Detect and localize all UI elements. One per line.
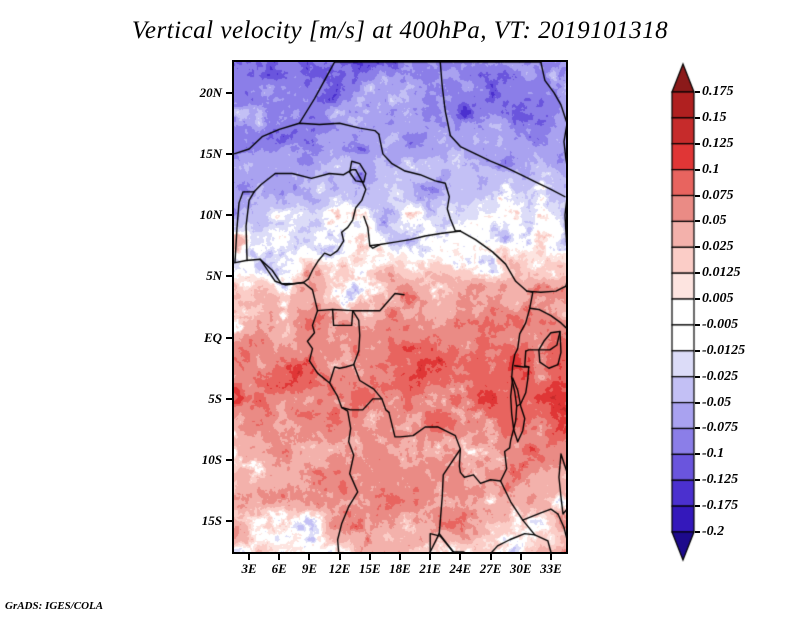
colorbar-tick-mark <box>695 91 700 93</box>
colorbar-tick-mark <box>695 376 700 378</box>
colorbar-tick-label: 0.175 <box>702 84 734 100</box>
colorbar-tick-label: 0.075 <box>702 188 734 204</box>
colorbar-tick-mark <box>695 272 700 274</box>
y-axis-tick-label: 15S <box>174 513 222 529</box>
y-axis-tick-label: 15N <box>174 146 222 162</box>
colorbar-tick-label: 0.05 <box>702 213 727 229</box>
y-axis-tick-mark <box>226 92 232 94</box>
page-title: Vertical velocity [m/s] at 400hPa, VT: 2… <box>0 17 800 45</box>
colorbar-tick-mark <box>695 117 700 119</box>
colorbar-tick-mark <box>695 479 700 481</box>
colorbar-tick-mark <box>695 169 700 171</box>
map-plot-area <box>232 60 568 554</box>
x-axis-tick-mark <box>248 554 250 560</box>
colorbar-tick-label: -0.05 <box>702 395 731 411</box>
colorbar-tick-mark <box>695 453 700 455</box>
y-axis-tick-label: 20N <box>174 85 222 101</box>
colorbar-tick-label: -0.0125 <box>702 343 745 359</box>
colorbar-tick-mark <box>695 220 700 222</box>
colorbar-tick-label: 0.125 <box>702 136 734 152</box>
y-axis-tick-mark <box>226 337 232 339</box>
colorbar-tick-mark <box>695 427 700 429</box>
colorbar-tick-label: -0.1 <box>702 446 724 462</box>
colorbar-tick-label: -0.175 <box>702 498 738 514</box>
x-axis-tick-mark <box>520 554 522 560</box>
colorbar-tick-mark <box>695 402 700 404</box>
colorbar-tick-label: 0.1 <box>702 162 720 178</box>
x-axis-tick-mark <box>459 554 461 560</box>
grads-attribution: GrADS: IGES/COLA <box>5 600 103 612</box>
y-axis-tick-mark <box>226 459 232 461</box>
x-axis-tick-mark <box>399 554 401 560</box>
x-axis-tick-mark <box>308 554 310 560</box>
y-axis-tick-mark <box>226 214 232 216</box>
colorbar-tick-label: -0.2 <box>702 524 724 540</box>
colorbar-tick-mark <box>695 531 700 533</box>
colorbar-tick-label: 0.005 <box>702 291 734 307</box>
x-axis-tick-mark <box>550 554 552 560</box>
colorbar-tick-mark <box>695 350 700 352</box>
colorbar-tick-mark <box>695 505 700 507</box>
x-axis-tick-mark <box>429 554 431 560</box>
y-axis-tick-label: 5N <box>174 268 222 284</box>
colorbar-tick-mark <box>695 298 700 300</box>
x-axis-tick-label: 33E <box>531 561 571 577</box>
colorbar-tick-mark <box>695 246 700 248</box>
y-axis-tick-mark <box>226 153 232 155</box>
x-axis-tick-mark <box>490 554 492 560</box>
colorbar-tick-label: 0.0125 <box>702 265 741 281</box>
y-axis-tick-label: 5S <box>174 391 222 407</box>
colorbar-tick-mark <box>695 143 700 145</box>
y-axis-tick-label: 10N <box>174 207 222 223</box>
colorbar-tick-label: -0.005 <box>702 317 738 333</box>
y-axis-tick-mark <box>226 275 232 277</box>
colorbar: 0.1750.150.1250.10.0750.050.0250.01250.0… <box>670 62 800 562</box>
x-axis-tick-mark <box>278 554 280 560</box>
colorbar-tick-label: -0.025 <box>702 369 738 385</box>
y-axis-tick-label: EQ <box>174 330 222 346</box>
colorbar-tick-label: 0.025 <box>702 239 734 255</box>
colorbar-tick-label: -0.125 <box>702 472 738 488</box>
colorbar-tick-mark <box>695 324 700 326</box>
y-axis-tick-mark <box>226 520 232 522</box>
y-axis-tick-label: 10S <box>174 452 222 468</box>
x-axis-tick-mark <box>339 554 341 560</box>
colorbar-tick-mark <box>695 195 700 197</box>
country-borders-overlay <box>234 62 566 552</box>
colorbar-tick-label: 0.15 <box>702 110 727 126</box>
y-axis-tick-mark <box>226 398 232 400</box>
x-axis-tick-mark <box>369 554 371 560</box>
colorbar-tick-label: -0.075 <box>702 420 738 436</box>
